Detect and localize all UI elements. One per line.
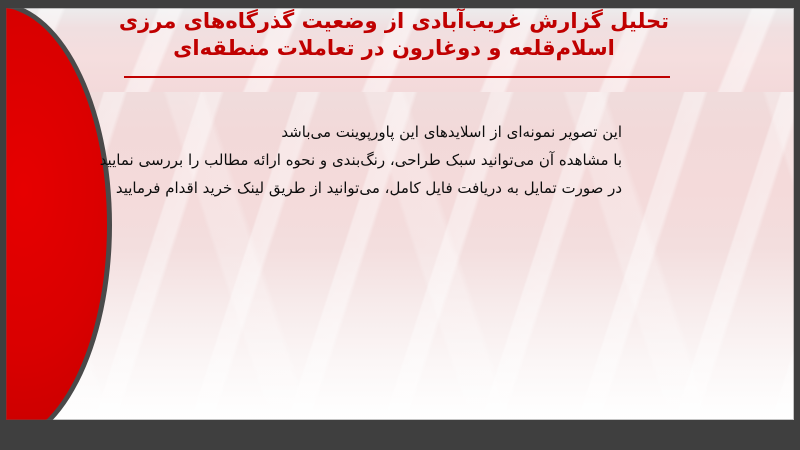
body-text-line-2: با مشاهده آن می‌توانید سبک طراحی، رنگ‌بن… [170, 146, 622, 174]
presentation-slide: تحلیل گزارش غریب‌آبادی از وضعیت گذرگاه‌ه… [0, 0, 800, 450]
title-underline-rule [124, 76, 670, 78]
frame-bar-right [794, 0, 800, 450]
slide-body-text: این تصویر نمونه‌ای از اسلایدهای این پاور… [170, 118, 622, 202]
body-text-line-1: این تصویر نمونه‌ای از اسلایدهای این پاور… [170, 118, 622, 146]
frame-bar-bottom [0, 420, 800, 450]
slide-title-line-2: اسلام‌قلعه و دوغارون در تعاملات منطقه‌ای [24, 35, 764, 62]
frame-bar-top [0, 0, 800, 8]
slide-title: تحلیل گزارش غریب‌آبادی از وضعیت گذرگاه‌ه… [0, 8, 788, 62]
body-text-line-3: در صورت تمایل به دریافت فایل کامل، می‌تو… [170, 174, 622, 202]
slide-title-line-1: تحلیل گزارش غریب‌آبادی از وضعیت گذرگاه‌ه… [24, 8, 764, 35]
frame-bar-left [0, 0, 6, 450]
slide-content-panel [6, 8, 794, 420]
